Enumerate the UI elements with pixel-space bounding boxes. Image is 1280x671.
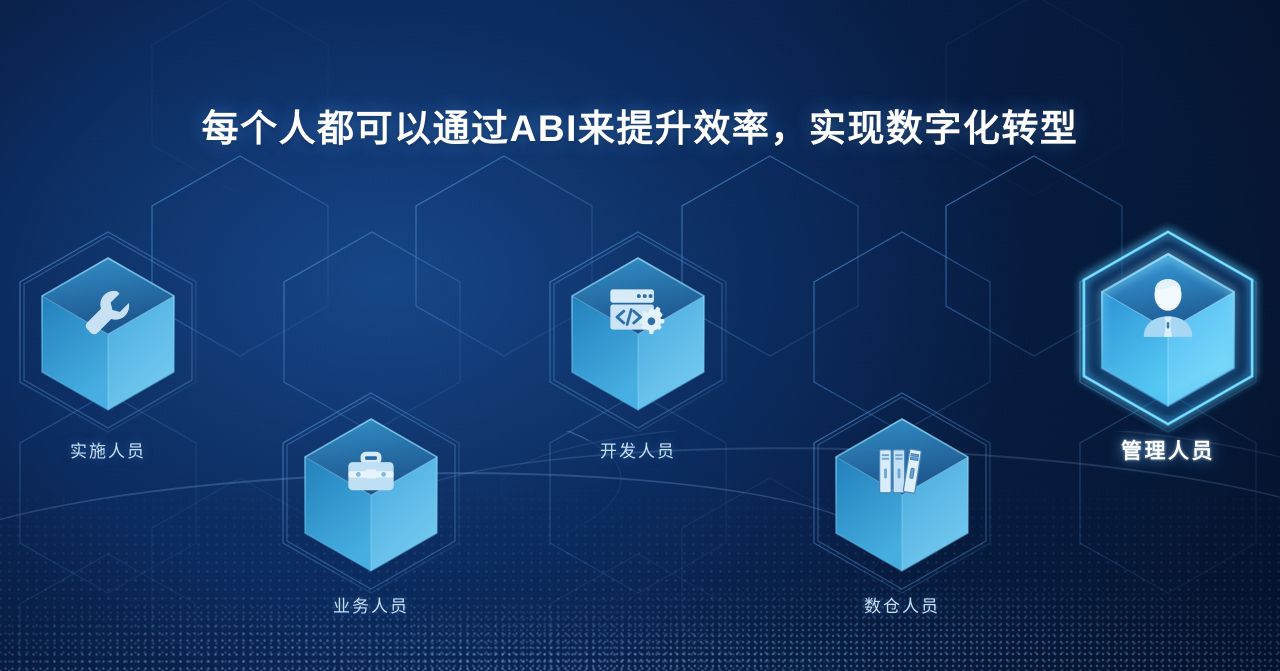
terrain-wave-back <box>0 441 1280 671</box>
terrain-wave-mid <box>0 471 1280 671</box>
role-label-business: 业务人员 <box>251 592 491 617</box>
slide-canvas: 每个人都可以通过ABI来提升效率，实现数字化转型 <box>0 0 1280 671</box>
hexagon-tile[interactable] <box>550 232 726 432</box>
terrain-wave-front <box>0 511 1280 671</box>
role-label-implementer: 实施人员 <box>0 437 228 462</box>
page-title: 每个人都可以通过ABI来提升效率，实现数字化转型 <box>0 98 1280 152</box>
hexagon-cube <box>283 393 459 593</box>
hexagon-tile[interactable] <box>283 393 459 593</box>
hexagon-cube-active <box>1080 228 1256 428</box>
hexagon-tile[interactable] <box>20 232 196 432</box>
dotted-wave-terrain <box>0 431 1280 671</box>
role-label-data-warehouse: 数仓人员 <box>782 592 1022 617</box>
hexagon-cube <box>814 393 990 593</box>
role-label-manager: 管理人员 <box>1048 435 1280 465</box>
hexagon-tile[interactable] <box>1080 228 1256 428</box>
hexagon-cube <box>20 232 196 432</box>
hexagon-cube <box>550 232 726 432</box>
hexagon-tile[interactable] <box>814 393 990 593</box>
role-label-developer: 开发人员 <box>518 437 758 462</box>
